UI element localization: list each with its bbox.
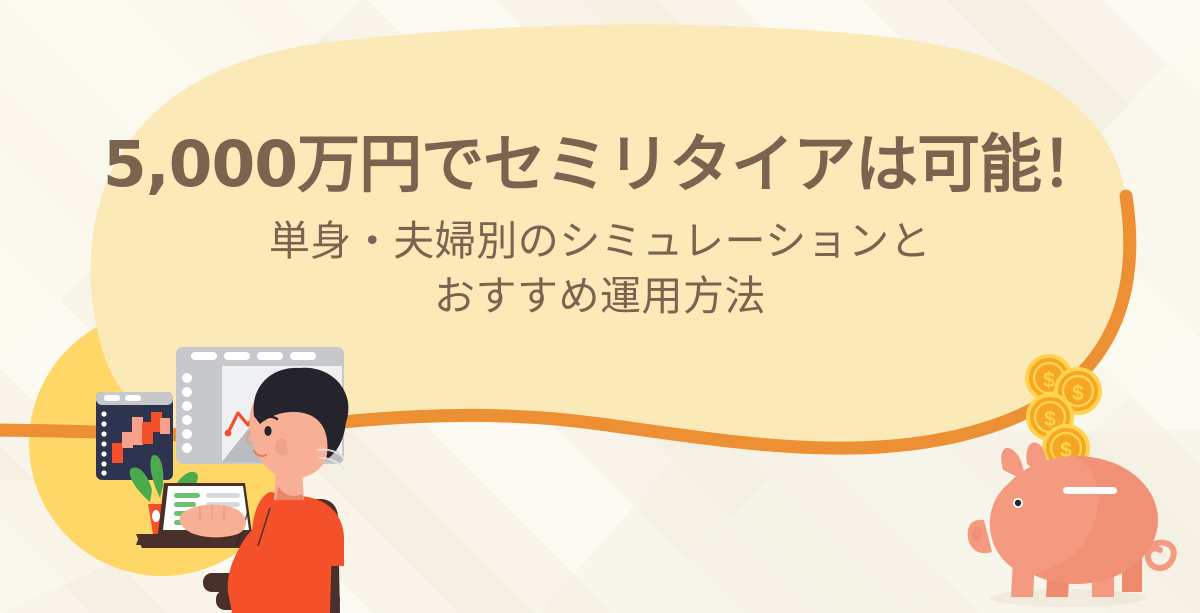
person-at-desk-illustration: [0, 0, 1200, 613]
banner-canvas: 5,000万円でセミリタイアは可能！ 単身・夫婦別のシミュレーションと おすすめ…: [0, 0, 1200, 613]
